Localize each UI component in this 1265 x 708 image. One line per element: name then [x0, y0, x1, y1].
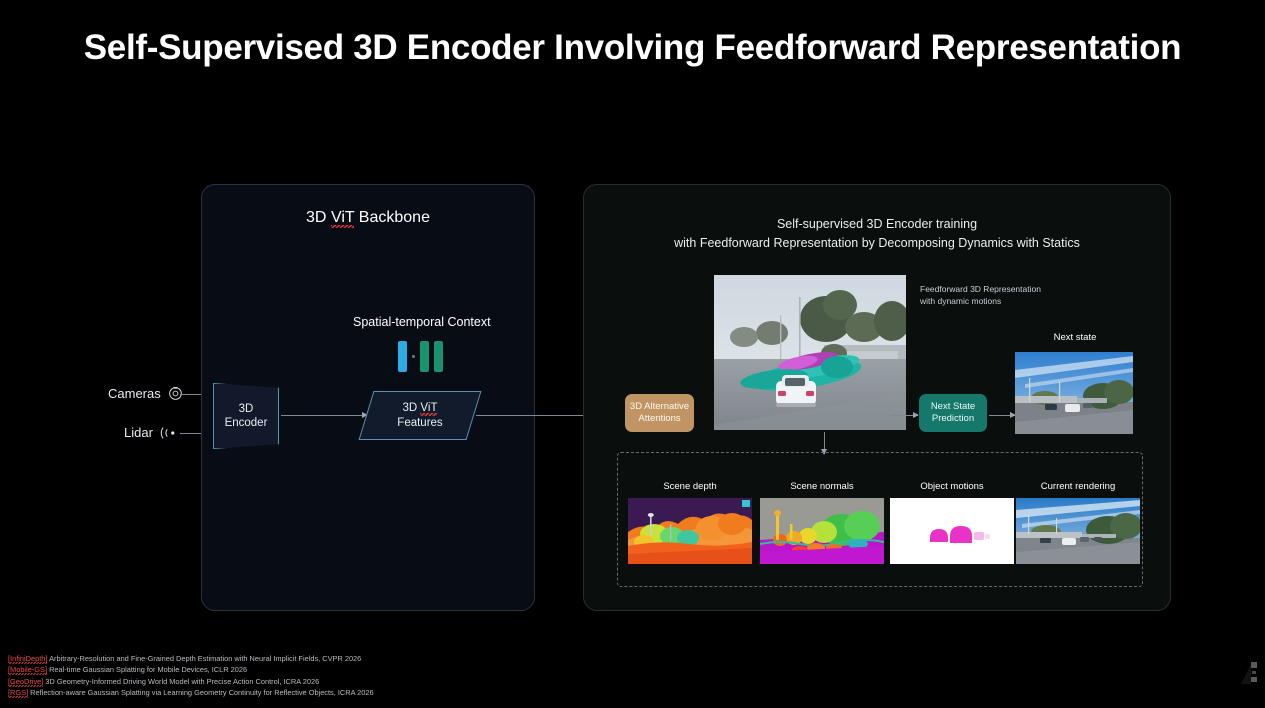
block-next-state-prediction-label: Next State Prediction	[931, 401, 975, 425]
footnote-text: Arbitrary-Resolution and Fine-Grained De…	[47, 654, 361, 663]
footnote-tag: [RGS]	[8, 688, 28, 698]
footnote-item: [Mobile-GS] Real-time Gaussian Splatting…	[8, 664, 374, 675]
spatial-temporal-context-bars	[398, 341, 443, 372]
input-lidar-label: Lidar	[124, 425, 153, 440]
panel-left-title: 3D ViT Backbone	[202, 209, 534, 227]
footnotes: [InfiniDepth] Arbitrary-Resolution and F…	[8, 653, 374, 698]
feedforward-caption: Feedforward 3D Representation with dynam…	[920, 283, 1041, 308]
arrow-to-outputs	[824, 432, 825, 454]
footnote-text: Real-time Gaussian Splatting for Mobile …	[47, 665, 247, 674]
lidar-signal-icon	[160, 426, 180, 440]
panel-left-title-pre: 3D	[306, 209, 331, 226]
context-bar-1	[398, 341, 407, 372]
output-current-rendering-label: Current rendering	[1016, 481, 1140, 492]
panel-right-title: Self-supervised 3D Encoder training with…	[584, 215, 1170, 254]
next-state-label: Next state	[1015, 332, 1135, 343]
output-scene-depth-label: Scene depth	[628, 481, 752, 492]
panel-right-title-line2: with Feedforward Representation by Decom…	[584, 234, 1170, 253]
footnote-item: [GeoDrive] 3D Geometry-Informed Driving …	[8, 676, 374, 687]
footnote-text: 3D Geometry-Informed Driving World Model…	[43, 677, 319, 686]
output-scene-normals: Scene normals	[760, 453, 884, 564]
output-scene-normals-label: Scene normals	[760, 481, 884, 492]
slide-nav-corner-icon[interactable]	[1239, 658, 1261, 688]
footnote-item: [InfiniDepth] Arbitrary-Resolution and F…	[8, 653, 374, 664]
arrow-encoder-to-features	[281, 415, 367, 416]
footnote-tag: [InfiniDepth]	[8, 654, 47, 664]
input-lidar: Lidar	[124, 425, 180, 440]
block-next-state-prediction[interactable]: Next State Prediction	[919, 394, 987, 432]
footnote-item: [RGS] Reflection-aware Gaussian Splattin…	[8, 687, 374, 698]
outputs-dashed-container: Scene depth	[617, 452, 1143, 587]
panel-right-title-line1: Self-supervised 3D Encoder training	[584, 215, 1170, 234]
output-scene-depth-image	[628, 498, 752, 564]
output-object-motions-image	[890, 498, 1014, 564]
block-3d-encoder-label: 3D Encoder	[213, 383, 279, 449]
block-3d-alternative-attentions-label: 3D Alternative Attentions	[630, 401, 689, 425]
block-3d-vit-features[interactable]	[359, 391, 482, 440]
next-state-image	[1015, 352, 1133, 434]
context-bar-2	[420, 341, 429, 372]
arrow-next-state-to-image	[989, 415, 1015, 416]
block-3d-alternative-attentions[interactable]: 3D Alternative Attentions	[625, 394, 694, 432]
footnote-tag: [Mobile-GS]	[8, 665, 47, 675]
context-bar-dot	[412, 355, 415, 358]
output-scene-depth: Scene depth	[628, 453, 752, 564]
input-cameras-label: Cameras	[108, 386, 161, 401]
panel-left-title-misspelled: ViT	[331, 209, 354, 228]
input-cameras: Cameras	[108, 386, 183, 401]
output-scene-normals-image	[760, 498, 884, 564]
output-object-motions: Object motions	[890, 453, 1014, 564]
footnote-text: Reflection-aware Gaussian Splatting via …	[28, 688, 373, 697]
output-object-motions-label: Object motions	[890, 481, 1014, 492]
output-current-rendering-image	[1016, 498, 1140, 564]
spatial-temporal-context-label: Spatial-temporal Context	[353, 315, 491, 329]
arrow-image-to-next-state	[890, 415, 918, 416]
feedforward-3d-representation-image	[714, 275, 906, 430]
context-bar-3	[434, 341, 443, 372]
output-current-rendering: Current rendering	[1016, 453, 1140, 564]
panel-left-title-post: Backbone	[354, 209, 430, 226]
footnote-tag: [GeoDrive]	[8, 677, 43, 687]
page-title: Self-Supervised 3D Encoder Involving Fee…	[0, 28, 1265, 68]
slide-root: Self-Supervised 3D Encoder Involving Fee…	[0, 0, 1265, 708]
